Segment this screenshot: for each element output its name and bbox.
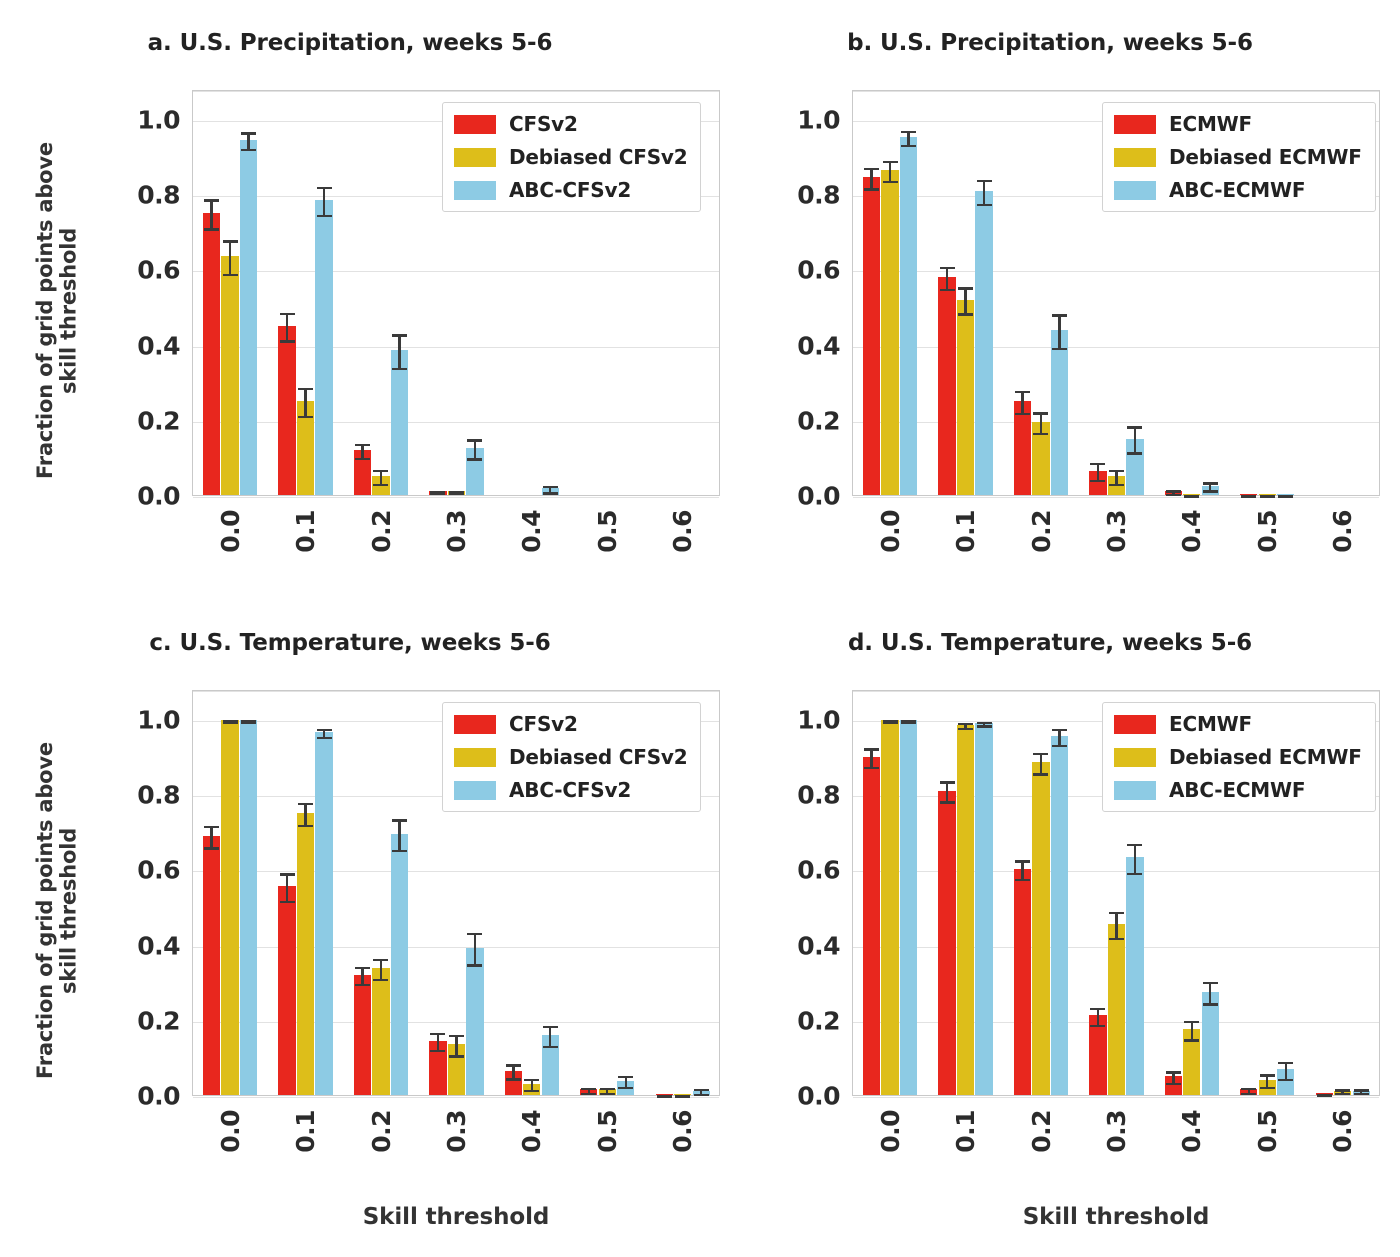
error-bar-cap bbox=[977, 180, 992, 182]
error-bar bbox=[380, 959, 382, 982]
legend-label: ABC-ECMWF bbox=[1169, 178, 1305, 202]
bar bbox=[900, 720, 917, 1095]
error-bar-cap bbox=[1127, 426, 1142, 428]
error-bar-cap bbox=[1335, 1093, 1350, 1095]
error-bar bbox=[210, 826, 212, 850]
error-bar-cap bbox=[940, 801, 955, 803]
bar bbox=[1108, 924, 1125, 1095]
legend-label: ABC-CFSv2 bbox=[509, 178, 631, 202]
figure-grid: a. U.S. Precipitation, weeks 5-6Fraction… bbox=[0, 0, 1400, 1257]
error-bar-cap bbox=[1090, 480, 1105, 482]
panel-a: a. U.S. Precipitation, weeks 5-6Fraction… bbox=[0, 0, 700, 610]
legend-b: ECMWFDebiased ECMWFABC-ECMWF bbox=[1102, 102, 1376, 212]
bar bbox=[938, 277, 955, 495]
error-bar-cap bbox=[467, 964, 482, 966]
error-bar-cap bbox=[1203, 490, 1218, 492]
error-bar-cap bbox=[355, 967, 370, 969]
bar bbox=[1202, 992, 1219, 1095]
error-bar-cap bbox=[864, 168, 879, 170]
legend-color-swatch bbox=[454, 115, 496, 134]
gridline bbox=[193, 1022, 719, 1023]
x-tick-label: 0.6 bbox=[1328, 510, 1357, 553]
x-tick-label: 0.6 bbox=[668, 1110, 697, 1153]
error-bar-cap bbox=[298, 825, 313, 827]
error-bar-cap bbox=[449, 493, 464, 495]
error-bar-cap bbox=[1184, 495, 1199, 497]
panel-d: d. U.S. Temperature, weeks 5-60.00.20.40… bbox=[700, 610, 1400, 1257]
legend-label: ABC-ECMWF bbox=[1169, 778, 1305, 802]
error-bar-cap bbox=[317, 215, 332, 217]
error-bar-cap bbox=[1241, 495, 1256, 497]
gridline bbox=[853, 91, 1379, 92]
y-tick-label: 1.0 bbox=[782, 106, 840, 135]
error-bar-cap bbox=[392, 850, 407, 852]
panel-title-d: d. U.S. Temperature, weeks 5-6 bbox=[700, 630, 1400, 656]
error-bar-cap bbox=[1052, 745, 1067, 747]
error-bar-cap bbox=[1166, 490, 1181, 492]
bar bbox=[221, 720, 238, 1095]
error-bar-cap bbox=[467, 933, 482, 935]
error-bar bbox=[1115, 912, 1117, 941]
error-bar-cap bbox=[940, 289, 955, 291]
bar bbox=[391, 350, 408, 495]
bar bbox=[1014, 401, 1031, 495]
gridline bbox=[193, 947, 719, 948]
x-tick-label: 0.0 bbox=[876, 510, 905, 553]
error-bar-cap bbox=[223, 722, 238, 724]
error-bar-cap bbox=[958, 723, 973, 725]
error-bar-cap bbox=[675, 1095, 690, 1097]
error-bar-cap bbox=[1090, 463, 1105, 465]
legend-a: CFSv2Debiased CFSv2ABC-CFSv2 bbox=[442, 102, 701, 212]
error-bar-cap bbox=[581, 1088, 596, 1090]
x-tick-label: 0.3 bbox=[1102, 1110, 1131, 1153]
legend-item[interactable]: Debiased ECMWF bbox=[1114, 745, 1362, 769]
legend-label: Debiased CFSv2 bbox=[509, 745, 687, 769]
bar bbox=[354, 975, 371, 1095]
y-tick-label: 0.8 bbox=[782, 181, 840, 210]
error-bar-cap bbox=[1166, 1083, 1181, 1085]
error-bar-cap bbox=[1203, 1003, 1218, 1005]
error-bar-cap bbox=[355, 444, 370, 446]
error-bar-cap bbox=[317, 729, 332, 731]
gridline bbox=[193, 422, 719, 423]
error-bar-cap bbox=[317, 737, 332, 739]
error-bar bbox=[304, 388, 306, 418]
error-bar-cap bbox=[901, 131, 916, 133]
error-bar-cap bbox=[1015, 391, 1030, 393]
x-tick-label: 0.5 bbox=[1253, 1110, 1282, 1153]
bar bbox=[1089, 1015, 1106, 1095]
legend-item[interactable]: ECMWF bbox=[1114, 112, 1362, 136]
error-bar-cap bbox=[430, 493, 445, 495]
error-bar-cap bbox=[618, 1076, 633, 1078]
error-bar bbox=[323, 187, 325, 217]
error-bar-cap bbox=[506, 1064, 521, 1066]
bar bbox=[240, 720, 257, 1095]
error-bar-cap bbox=[864, 767, 879, 769]
error-bar-cap bbox=[958, 287, 973, 289]
error-bar-cap bbox=[204, 199, 219, 201]
x-tick-label: 0.3 bbox=[442, 1110, 471, 1153]
bar bbox=[372, 968, 389, 1095]
error-bar bbox=[1134, 426, 1136, 455]
error-bar-cap bbox=[241, 132, 256, 134]
error-bar-cap bbox=[298, 388, 313, 390]
error-bar-cap bbox=[940, 781, 955, 783]
legend-label: CFSv2 bbox=[509, 712, 578, 736]
legend-label: ABC-CFSv2 bbox=[509, 778, 631, 802]
y-tick-label: 0.2 bbox=[122, 1006, 180, 1035]
error-bar-cap bbox=[864, 188, 879, 190]
y-tick-label: 0.4 bbox=[122, 931, 180, 960]
legend-color-swatch bbox=[1114, 748, 1156, 767]
error-bar-cap bbox=[543, 492, 558, 494]
legend-color-swatch bbox=[1114, 181, 1156, 200]
bar bbox=[297, 813, 314, 1095]
error-bar-cap bbox=[581, 1093, 596, 1095]
error-bar-cap bbox=[373, 470, 388, 472]
gridline bbox=[193, 91, 719, 92]
x-tick-label: 0.0 bbox=[876, 1110, 905, 1153]
legend-color-swatch bbox=[454, 715, 496, 734]
error-bar-cap bbox=[524, 1090, 539, 1092]
legend-label: Debiased ECMWF bbox=[1169, 145, 1362, 169]
legend-color-swatch bbox=[1114, 148, 1156, 167]
legend-color-swatch bbox=[454, 748, 496, 767]
error-bar-cap bbox=[1335, 1089, 1350, 1091]
error-bar-cap bbox=[430, 1050, 445, 1052]
error-bar-cap bbox=[1317, 1094, 1332, 1096]
y-tick-label: 0.4 bbox=[122, 331, 180, 360]
panel-b: b. U.S. Precipitation, weeks 5-60.00.20.… bbox=[700, 0, 1400, 610]
error-bar-cap bbox=[958, 728, 973, 730]
gridline bbox=[193, 271, 719, 272]
x-tick-label: 0.6 bbox=[1328, 1110, 1357, 1153]
error-bar-cap bbox=[1109, 938, 1124, 940]
gridline bbox=[193, 691, 719, 692]
error-bar bbox=[1209, 982, 1211, 1006]
error-bar-cap bbox=[1015, 860, 1030, 862]
error-bar bbox=[1040, 753, 1042, 776]
legend-label: Debiased ECMWF bbox=[1169, 745, 1362, 769]
error-bar-cap bbox=[280, 901, 295, 903]
error-bar-cap bbox=[449, 1055, 464, 1057]
y-tick-label: 0.2 bbox=[782, 406, 840, 435]
error-bar bbox=[964, 287, 966, 316]
gridline bbox=[193, 1097, 719, 1098]
error-bar-cap bbox=[1354, 1093, 1369, 1095]
legend-item[interactable]: Debiased ECMWF bbox=[1114, 145, 1362, 169]
error-bar-cap bbox=[1260, 1074, 1275, 1076]
gridline bbox=[853, 347, 1379, 348]
error-bar-cap bbox=[298, 803, 313, 805]
error-bar-cap bbox=[543, 1026, 558, 1028]
gridline bbox=[853, 1097, 1379, 1098]
error-bar bbox=[549, 1026, 551, 1049]
bar bbox=[938, 791, 955, 1096]
bar bbox=[957, 300, 974, 495]
legend-item[interactable]: ABC-CFSv2 bbox=[454, 778, 687, 802]
x-tick-label: 0.0 bbox=[216, 1110, 245, 1153]
error-bar-cap bbox=[449, 1035, 464, 1037]
x-tick-label: 0.2 bbox=[367, 1110, 396, 1153]
y-tick-label: 1.0 bbox=[782, 706, 840, 735]
error-bar-cap bbox=[1052, 314, 1067, 316]
bar bbox=[1126, 857, 1143, 1095]
error-bar bbox=[398, 819, 400, 852]
error-bar-cap bbox=[298, 416, 313, 418]
error-bar-cap bbox=[618, 1087, 633, 1089]
bar bbox=[957, 725, 974, 1095]
error-bar-cap bbox=[280, 340, 295, 342]
error-bar-cap bbox=[280, 873, 295, 875]
error-bar-cap bbox=[524, 1079, 539, 1081]
bar bbox=[1032, 762, 1049, 1095]
x-tick-label: 0.2 bbox=[1027, 1110, 1056, 1153]
error-bar-cap bbox=[1127, 844, 1142, 846]
gridline bbox=[853, 497, 1379, 498]
error-bar-cap bbox=[204, 228, 219, 230]
bar bbox=[240, 140, 257, 495]
error-bar-cap bbox=[1184, 1021, 1199, 1023]
error-bar-cap bbox=[355, 984, 370, 986]
error-bar bbox=[1040, 412, 1042, 435]
error-bar-cap bbox=[1033, 773, 1048, 775]
error-bar-cap bbox=[1203, 482, 1218, 484]
y-tick-label: 0.6 bbox=[122, 256, 180, 285]
bar bbox=[391, 834, 408, 1095]
error-bar-cap bbox=[204, 826, 219, 828]
panel-title-b: b. U.S. Precipitation, weeks 5-6 bbox=[700, 30, 1400, 56]
x-tick-label: 0.1 bbox=[291, 510, 320, 553]
error-bar-cap bbox=[1015, 413, 1030, 415]
error-bar-cap bbox=[373, 979, 388, 981]
legend-label: Debiased CFSv2 bbox=[509, 145, 687, 169]
gridline bbox=[853, 871, 1379, 872]
error-bar-cap bbox=[392, 368, 407, 370]
error-bar-cap bbox=[1203, 982, 1218, 984]
bar bbox=[203, 213, 220, 495]
y-tick-label: 0.6 bbox=[122, 856, 180, 885]
error-bar-cap bbox=[1260, 1087, 1275, 1089]
y-tick-label: 0.2 bbox=[782, 1006, 840, 1035]
error-bar-cap bbox=[204, 847, 219, 849]
x-tick-label: 0.0 bbox=[216, 510, 245, 553]
error-bar-cap bbox=[1166, 494, 1181, 496]
error-bar-cap bbox=[1278, 495, 1293, 497]
error-bar-cap bbox=[1109, 484, 1124, 486]
error-bar-cap bbox=[901, 722, 916, 724]
error-bar-cap bbox=[883, 161, 898, 163]
error-bar-cap bbox=[1033, 412, 1048, 414]
bar bbox=[1051, 736, 1068, 1095]
gridline bbox=[853, 422, 1379, 423]
bar bbox=[221, 256, 238, 495]
gridline bbox=[853, 271, 1379, 272]
legend-color-swatch bbox=[454, 781, 496, 800]
error-bar-cap bbox=[317, 187, 332, 189]
legend-item[interactable]: ABC-ECMWF bbox=[1114, 178, 1362, 202]
error-bar-cap bbox=[1090, 1008, 1105, 1010]
x-axis-label: Skill threshold bbox=[852, 1204, 1380, 1230]
y-tick-label: 0.6 bbox=[782, 856, 840, 885]
legend-color-swatch bbox=[1114, 715, 1156, 734]
x-tick-label: 0.6 bbox=[668, 510, 697, 553]
bar bbox=[863, 177, 880, 495]
x-tick-label: 0.1 bbox=[951, 1110, 980, 1153]
error-bar-cap bbox=[392, 819, 407, 821]
error-bar-cap bbox=[467, 439, 482, 441]
y-tick-label: 0.4 bbox=[782, 331, 840, 360]
y-tick-label: 0.0 bbox=[122, 482, 180, 511]
bar bbox=[315, 732, 332, 1095]
gridline bbox=[193, 871, 719, 872]
error-bar bbox=[229, 240, 231, 276]
error-bar-cap bbox=[977, 204, 992, 206]
bar bbox=[278, 886, 295, 1095]
error-bar-cap bbox=[1278, 1062, 1293, 1064]
error-bar bbox=[870, 168, 872, 191]
legend-d: ECMWFDebiased ECMWFABC-ECMWF bbox=[1102, 702, 1376, 812]
error-bar-cap bbox=[958, 313, 973, 315]
error-bar-cap bbox=[467, 458, 482, 460]
error-bar-cap bbox=[883, 181, 898, 183]
bar bbox=[1014, 869, 1031, 1095]
error-bar-cap bbox=[977, 725, 992, 727]
x-tick-label: 0.1 bbox=[951, 510, 980, 553]
bar bbox=[466, 948, 483, 1095]
y-tick-label: 0.0 bbox=[782, 482, 840, 511]
bar bbox=[881, 170, 898, 495]
legend-c: CFSv2Debiased CFSv2ABC-CFSv2 bbox=[442, 702, 701, 812]
error-bar bbox=[286, 873, 288, 903]
error-bar bbox=[398, 334, 400, 370]
x-tick-label: 0.4 bbox=[517, 1110, 546, 1153]
error-bar-cap bbox=[543, 1046, 558, 1048]
x-tick-label: 0.4 bbox=[1177, 510, 1206, 553]
bar bbox=[975, 191, 992, 495]
error-bar-cap bbox=[1015, 879, 1030, 881]
legend-color-swatch bbox=[1114, 781, 1156, 800]
error-bar-cap bbox=[241, 722, 256, 724]
legend-item[interactable]: CFSv2 bbox=[454, 712, 687, 736]
legend-item[interactable]: ECMWF bbox=[1114, 712, 1362, 736]
gridline bbox=[193, 497, 719, 498]
y-tick-label: 0.8 bbox=[122, 181, 180, 210]
error-bar-cap bbox=[883, 722, 898, 724]
error-bar bbox=[946, 267, 948, 291]
error-bar-cap bbox=[1033, 433, 1048, 435]
legend-color-swatch bbox=[1114, 115, 1156, 134]
y-tick-label: 0.4 bbox=[782, 931, 840, 960]
error-bar-cap bbox=[280, 313, 295, 315]
y-tick-label: 0.8 bbox=[122, 781, 180, 810]
error-bar-cap bbox=[977, 722, 992, 724]
error-bar-cap bbox=[1260, 495, 1275, 497]
bar bbox=[863, 757, 880, 1095]
error-bar-cap bbox=[355, 458, 370, 460]
bar bbox=[975, 723, 992, 1095]
x-tick-label: 0.2 bbox=[367, 510, 396, 553]
error-bar-cap bbox=[223, 274, 238, 276]
x-tick-label: 0.5 bbox=[1253, 510, 1282, 553]
error-bar-cap bbox=[223, 240, 238, 242]
error-bar-cap bbox=[1127, 452, 1142, 454]
bar bbox=[881, 720, 898, 1095]
x-axis-label: Skill threshold bbox=[192, 1204, 720, 1230]
y-tick-label: 0.2 bbox=[122, 406, 180, 435]
bar bbox=[1051, 330, 1068, 495]
y-axis-label: Fraction of grid points above skill thre… bbox=[34, 96, 81, 526]
panel-title-c: c. U.S. Temperature, weeks 5-6 bbox=[0, 630, 700, 656]
error-bar-cap bbox=[543, 486, 558, 488]
error-bar bbox=[474, 933, 476, 967]
y-tick-label: 0.0 bbox=[122, 1082, 180, 1111]
error-bar-cap bbox=[1052, 729, 1067, 731]
error-bar bbox=[286, 313, 288, 343]
legend-item[interactable]: Debiased CFSv2 bbox=[454, 145, 687, 169]
y-axis-label: Fraction of grid points above skill thre… bbox=[34, 696, 81, 1126]
legend-item[interactable]: CFSv2 bbox=[454, 112, 687, 136]
error-bar-cap bbox=[1241, 1093, 1256, 1095]
legend-item[interactable]: ABC-ECMWF bbox=[1114, 778, 1362, 802]
error-bar bbox=[1058, 314, 1060, 350]
error-bar-cap bbox=[241, 149, 256, 151]
x-tick-label: 0.4 bbox=[1177, 1110, 1206, 1153]
error-bar-cap bbox=[1184, 1039, 1199, 1041]
x-tick-label: 0.1 bbox=[291, 1110, 320, 1153]
x-tick-label: 0.5 bbox=[593, 510, 622, 553]
legend-label: ECMWF bbox=[1169, 112, 1252, 136]
x-tick-label: 0.4 bbox=[517, 510, 546, 553]
error-bar-cap bbox=[1109, 470, 1124, 472]
error-bar-cap bbox=[1033, 753, 1048, 755]
error-bar-cap bbox=[940, 267, 955, 269]
error-bar-cap bbox=[1354, 1089, 1369, 1091]
y-tick-label: 0.6 bbox=[782, 256, 840, 285]
error-bar bbox=[889, 161, 891, 184]
error-bar-cap bbox=[1127, 873, 1142, 875]
error-bar-cap bbox=[600, 1093, 615, 1095]
error-bar-cap bbox=[392, 334, 407, 336]
error-bar bbox=[304, 803, 306, 827]
y-tick-label: 0.0 bbox=[782, 1082, 840, 1111]
error-bar-cap bbox=[506, 1078, 521, 1080]
error-bar bbox=[210, 199, 212, 231]
error-bar-cap bbox=[600, 1088, 615, 1090]
bar bbox=[278, 326, 295, 495]
bar bbox=[315, 200, 332, 495]
gridline bbox=[853, 691, 1379, 692]
error-bar-cap bbox=[901, 145, 916, 147]
legend-item[interactable]: Debiased CFSv2 bbox=[454, 745, 687, 769]
x-tick-label: 0.3 bbox=[442, 510, 471, 553]
error-bar bbox=[455, 1035, 457, 1058]
error-bar-cap bbox=[373, 484, 388, 486]
error-bar-cap bbox=[1109, 912, 1124, 914]
y-tick-label: 1.0 bbox=[122, 706, 180, 735]
x-tick-label: 0.5 bbox=[593, 1110, 622, 1153]
error-bar-cap bbox=[1241, 1088, 1256, 1090]
legend-label: ECMWF bbox=[1169, 712, 1252, 736]
legend-item[interactable]: ABC-CFSv2 bbox=[454, 178, 687, 202]
error-bar bbox=[946, 781, 948, 804]
bar bbox=[203, 836, 220, 1095]
error-bar bbox=[1134, 844, 1136, 876]
error-bar-cap bbox=[657, 1095, 672, 1097]
error-bar bbox=[1021, 391, 1023, 415]
